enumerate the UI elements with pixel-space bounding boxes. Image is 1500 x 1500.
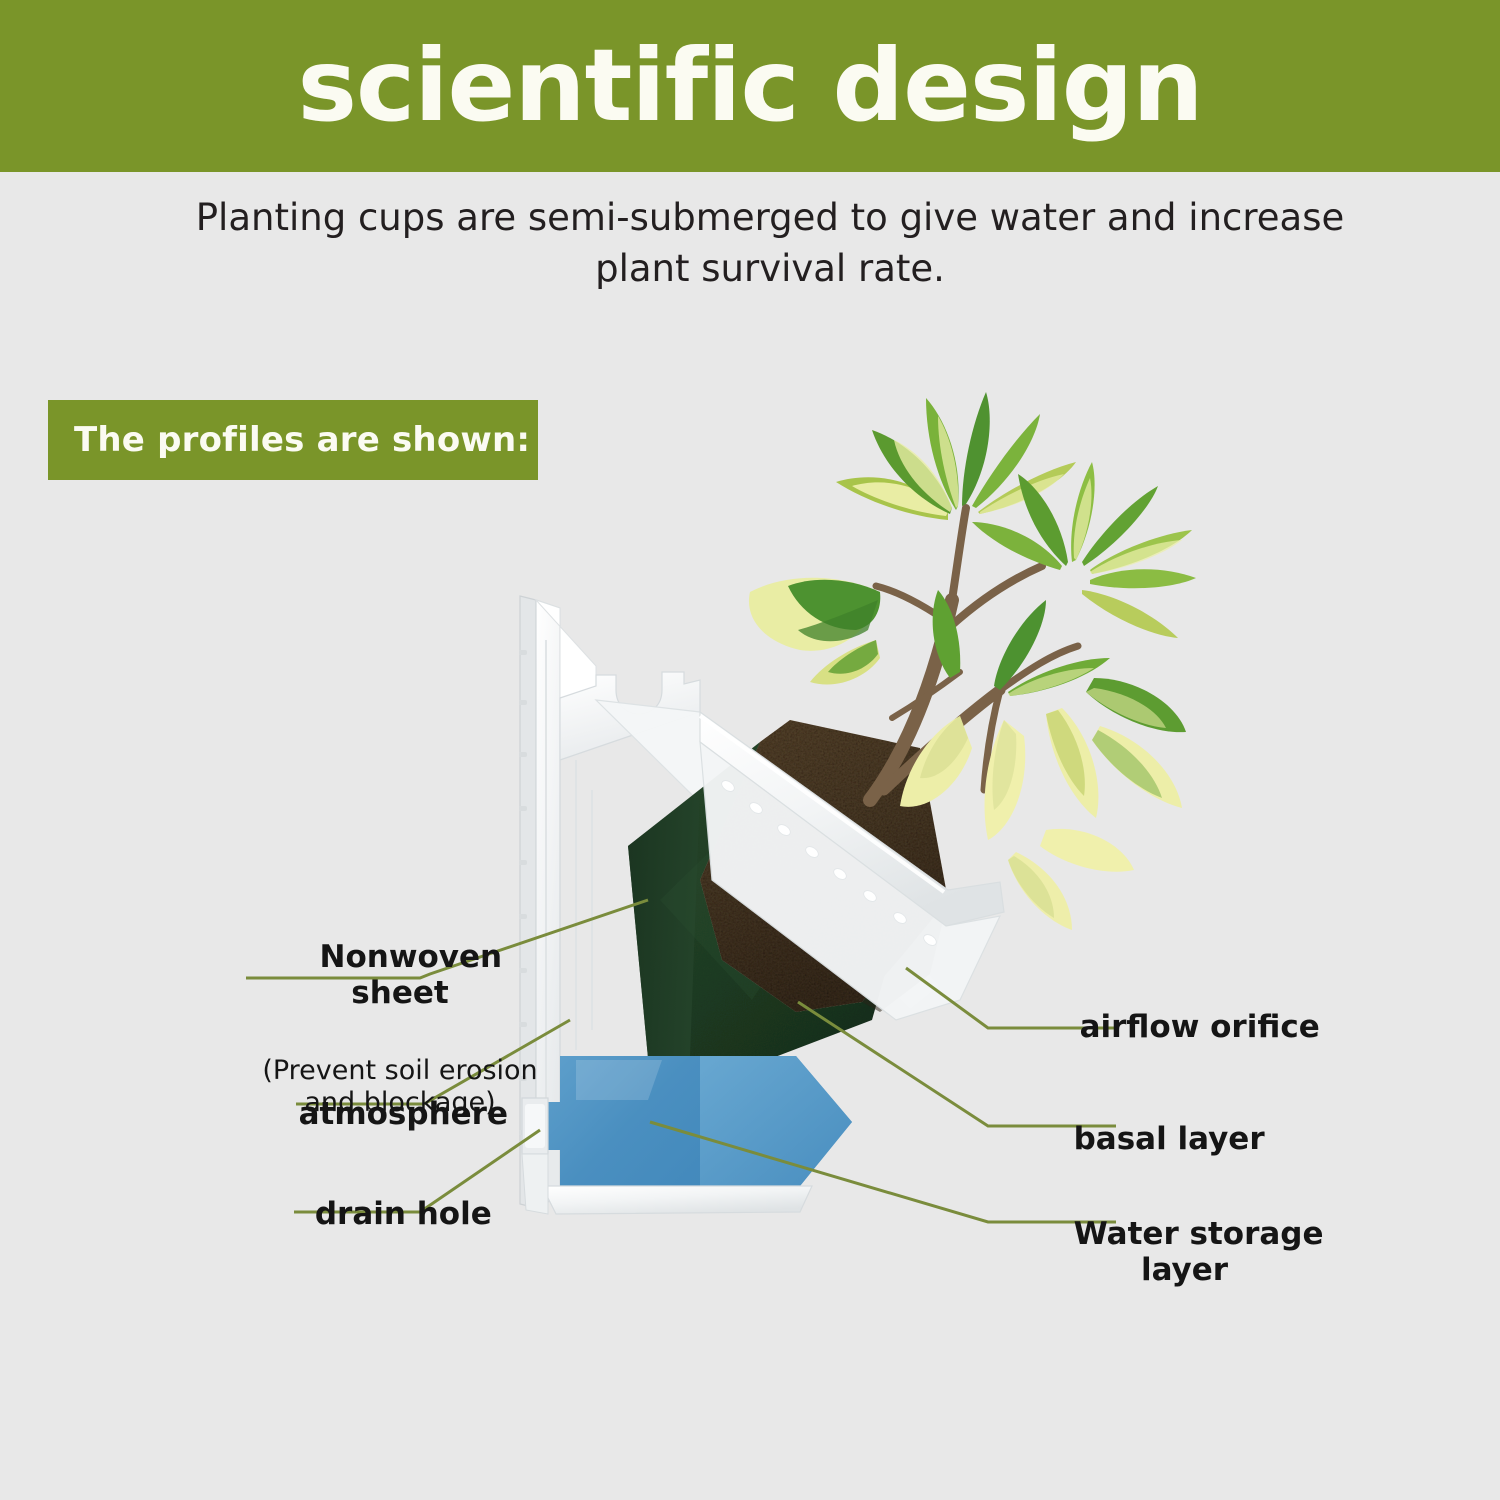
callout-basal-layer-label: basal layer xyxy=(1074,1121,1265,1157)
plant-leaf-cluster-center xyxy=(900,590,1186,930)
cup-bottom-plate xyxy=(542,1186,812,1214)
cup-rim-upper-face xyxy=(700,712,1004,926)
cup-top-back-flap xyxy=(536,600,596,700)
cup-inner-diagonal-wall xyxy=(596,700,940,1010)
header-banner: scientific design xyxy=(0,0,1500,172)
water-reservoir-facet xyxy=(700,1056,852,1186)
callout-water-storage-layer-label: Water storage layer xyxy=(1074,1216,1324,1287)
cup-rim-highlight xyxy=(700,716,944,892)
leader-line-water xyxy=(650,1122,1116,1222)
plastic-cup-body xyxy=(519,596,940,1208)
cup-slanted-rim xyxy=(700,712,1004,1020)
plant-stems xyxy=(870,508,1078,800)
soil-block-shape xyxy=(700,720,948,1012)
profiles-tag: The profiles are shown: xyxy=(48,400,538,480)
callout-atmosphere-label: atmosphere xyxy=(299,1096,508,1132)
cup-wall-seams xyxy=(546,640,592,1170)
water-reservoir-body xyxy=(542,1056,852,1186)
callout-airflow-orifice-label: airflow orifice xyxy=(1080,1009,1320,1045)
plant xyxy=(749,392,1196,930)
profiles-tag-label: The profiles are shown: xyxy=(48,420,530,460)
callout-airflow-orifice: airflow orifice xyxy=(1058,975,1320,1046)
nonwoven-sheet-highlight xyxy=(660,820,820,1000)
airflow-orifice-holes xyxy=(720,778,939,947)
water-surface-sheen xyxy=(576,1060,662,1100)
cup-front-panel-with-notch xyxy=(560,672,700,760)
callout-drain-hole: drain hole xyxy=(240,1162,545,1233)
callout-atmosphere: atmosphere xyxy=(235,1062,550,1133)
nonwoven-sheet-main xyxy=(628,742,906,1062)
cup-bottom xyxy=(522,1098,812,1214)
callout-basal-layer: basal layer xyxy=(1052,1087,1265,1158)
subtitle-text: Planting cups are semi-submerged to give… xyxy=(160,192,1380,294)
page-title: scientific design xyxy=(297,36,1202,136)
plant-leaf-cluster-top-left xyxy=(836,392,1076,520)
callout-drain-hole-label: drain hole xyxy=(315,1196,492,1232)
soil-block-shadow xyxy=(862,900,948,1012)
nonwoven-sheet xyxy=(628,742,906,1062)
water-storage-layer xyxy=(542,1056,852,1186)
callout-water-storage-layer: Water storage layer xyxy=(1052,1182,1317,1288)
soil-block xyxy=(700,720,948,1012)
plant-leaf-cluster-right xyxy=(972,462,1196,638)
plant-leaf-cluster-left xyxy=(749,578,880,685)
cup-rim-outer-face xyxy=(700,742,1000,1020)
callout-nonwoven-sheet-label: Nonwoven sheet xyxy=(320,939,503,1010)
nonwoven-sheet-fold xyxy=(628,790,700,1058)
